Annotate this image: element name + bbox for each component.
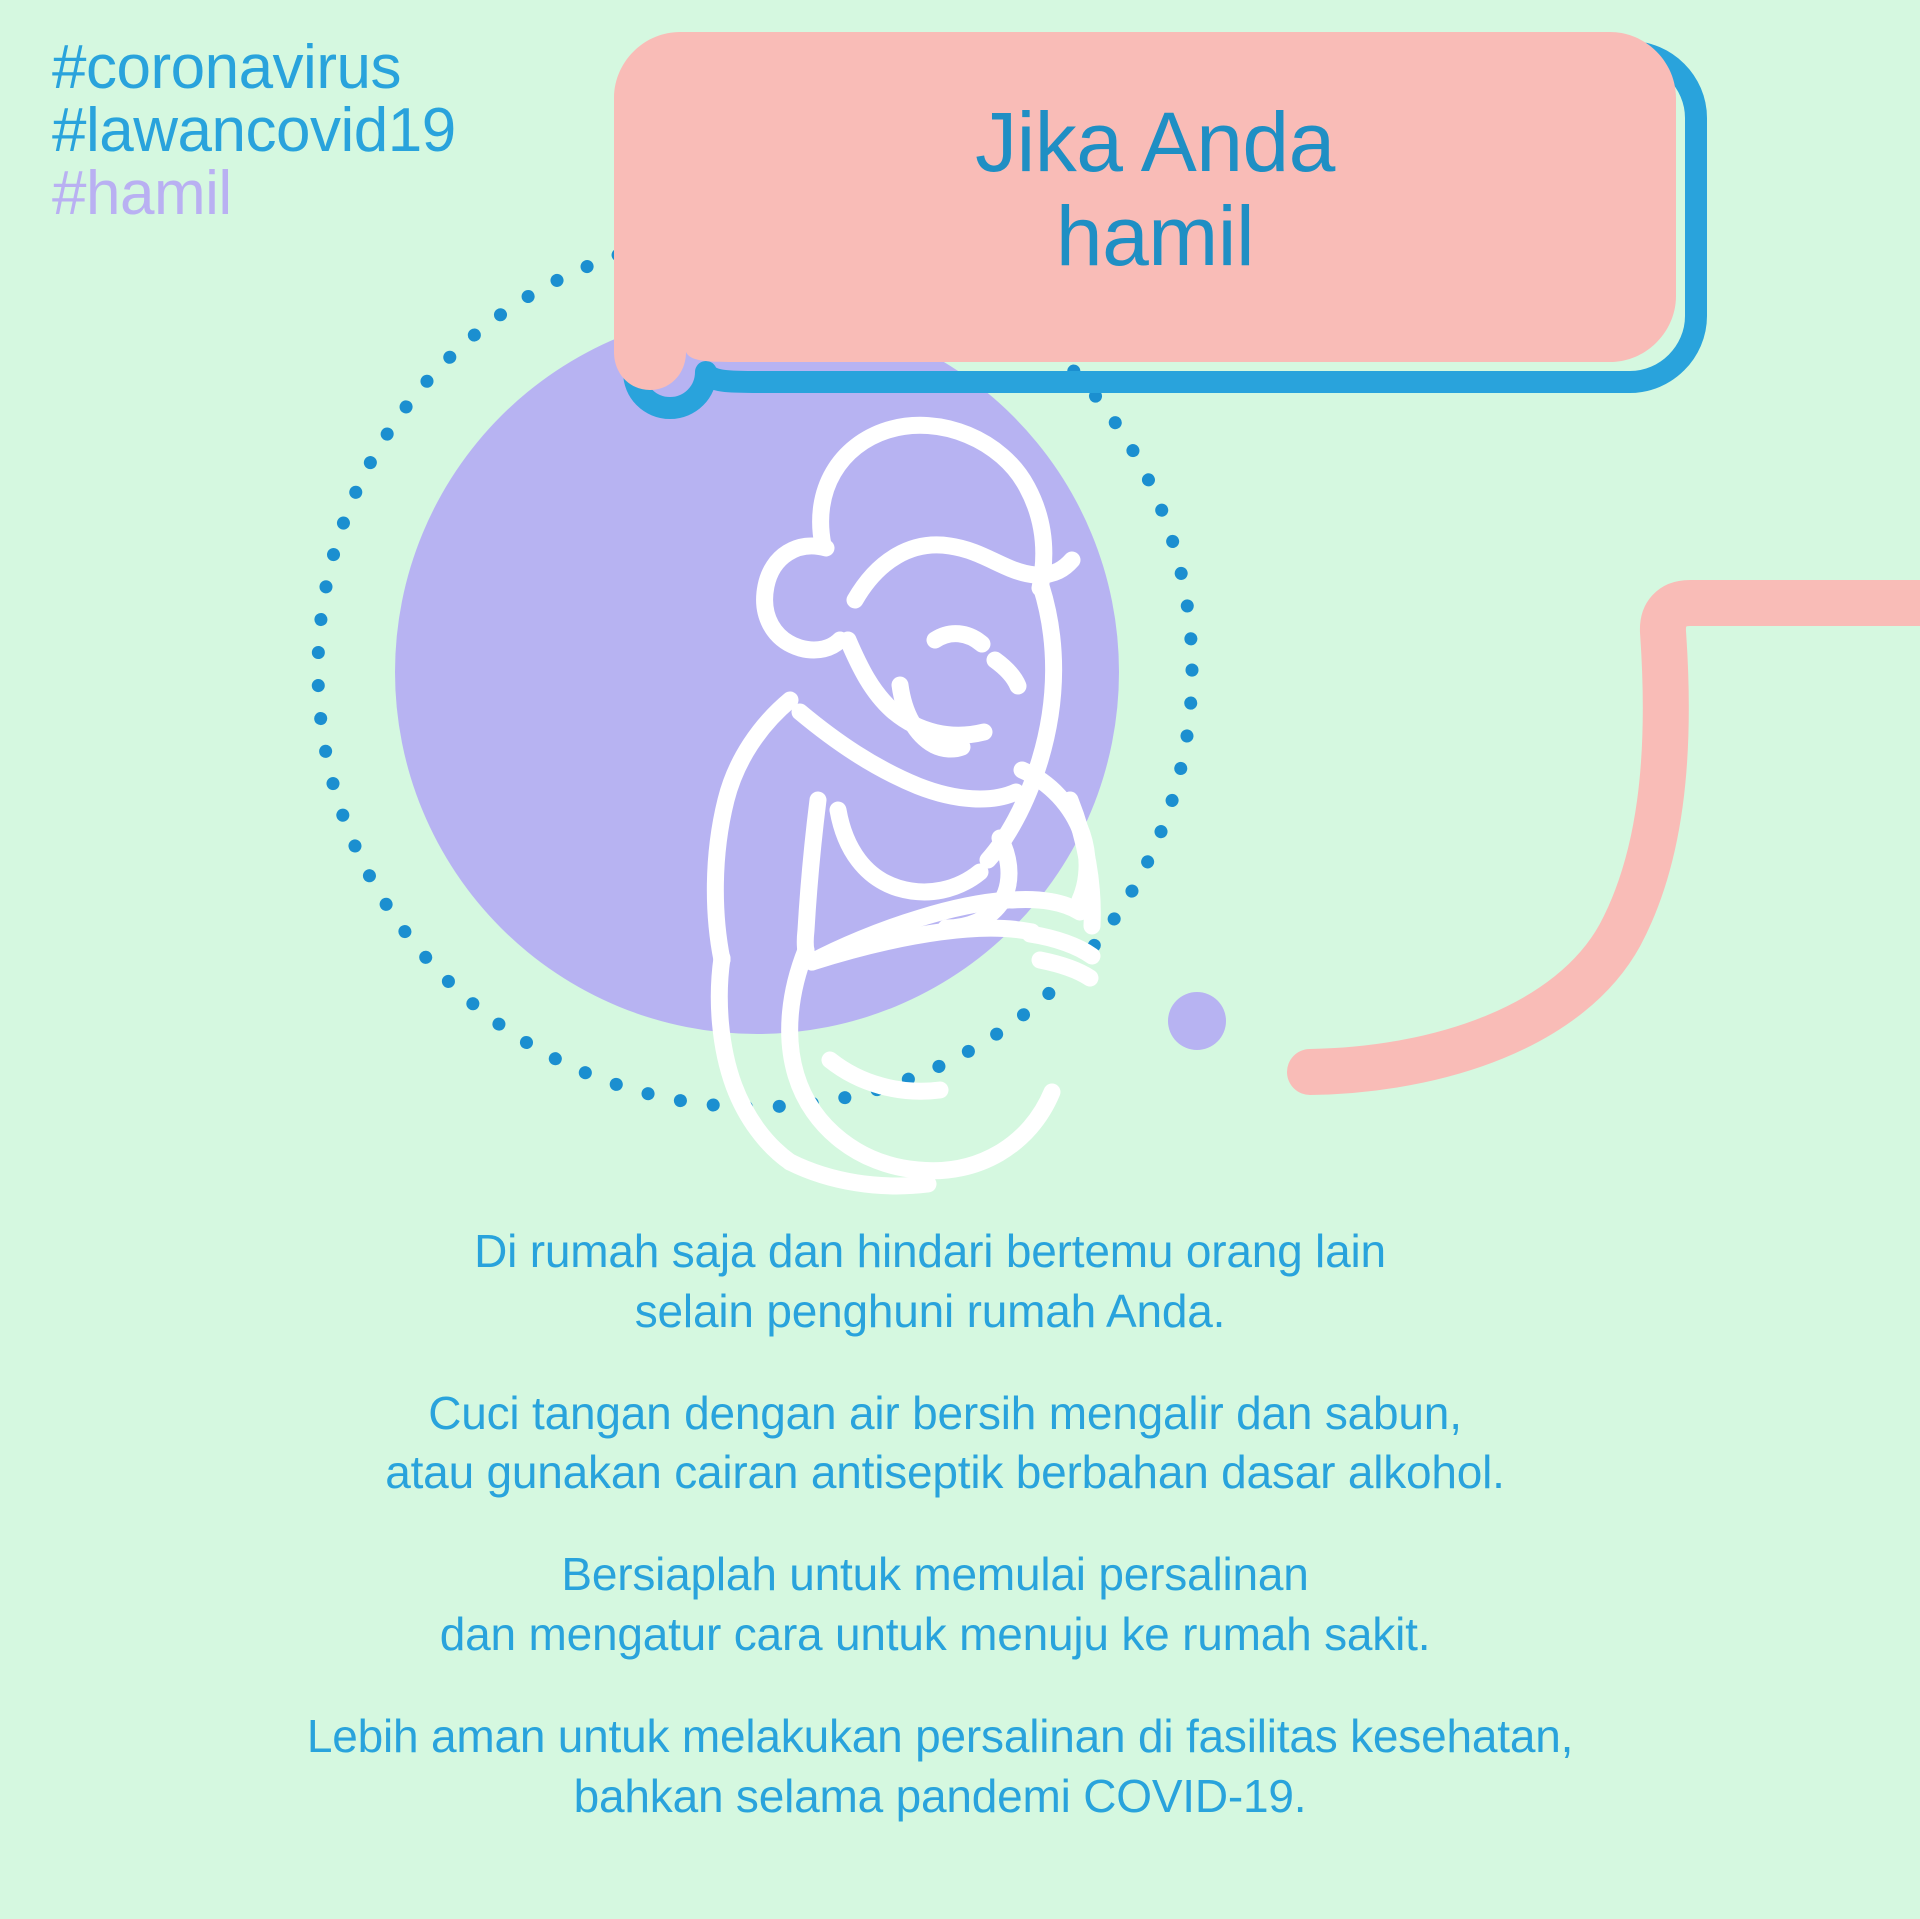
advice-paragraph-1: Di rumah saja dan hindari bertemu orang … [0,1222,1920,1342]
hashtag-block: #coronavirus #lawancovid19 #hamil [52,36,456,226]
pink-curve-decoration [1310,603,1920,1072]
hashtag-coronavirus: #coronavirus [52,36,456,99]
advice-paragraph-4: Lebih aman untuk melakukan persalinan di… [0,1707,1920,1827]
speech-bubble-body [614,32,1676,390]
poster-canvas: #coronavirus #lawancovid19 #hamil Jika A… [0,0,1920,1919]
advice-paragraph-3: Bersiaplah untuk memulai persalinan dan … [0,1545,1920,1665]
body-copy-block: Di rumah saja dan hindari bertemu orang … [0,1222,1920,1826]
purple-dot-decoration [1168,992,1226,1050]
hashtag-lawancovid19: #lawancovid19 [52,99,456,162]
advice-paragraph-2: Cuci tangan dengan air bersih mengalir d… [0,1384,1920,1504]
hashtag-hamil: #hamil [52,162,456,225]
